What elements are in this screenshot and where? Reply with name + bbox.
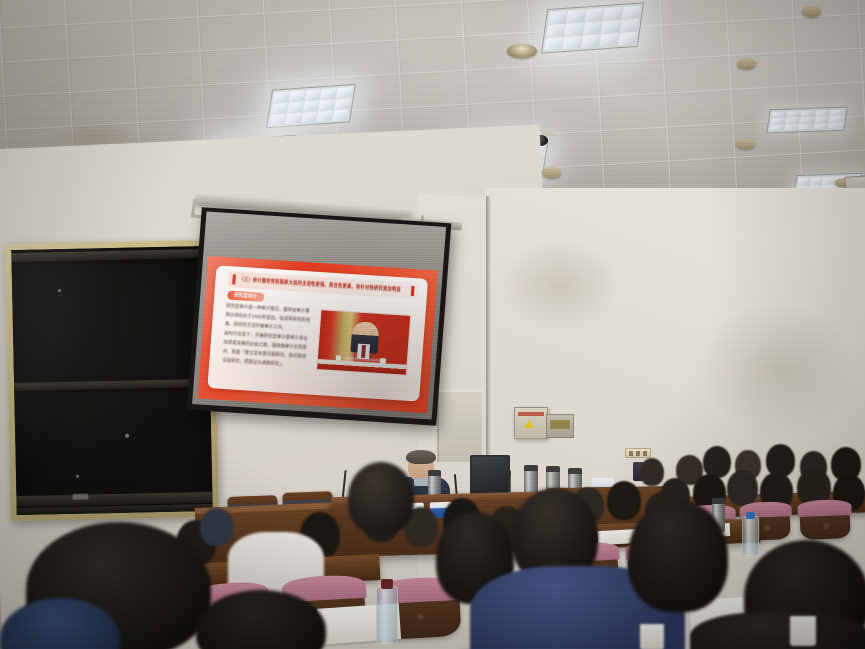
title-accent-bar-right: [411, 286, 415, 296]
troffer-light-1: [541, 2, 644, 53]
control-box: [546, 414, 574, 438]
electrical-panel: [514, 407, 548, 439]
water-bottle: [742, 516, 759, 556]
slide-content-card: （三）审计服务党和国家大局的主动性更强、契合性更高、有针对性研究更加明显 研究型…: [207, 265, 428, 401]
smoke-detector-icon: [736, 138, 755, 149]
photo-cup: [380, 358, 386, 363]
slide-paragraph-2: 新时代背景下，开展研究型审计是审计事业高质量发展的必由之路，围绕做审计长的思并，…: [222, 329, 309, 370]
paper-cup: [790, 616, 816, 646]
podium-monitor: [470, 455, 510, 495]
lecture-hall-photo: （三）审计服务党和国家大局的主动性更强、契合性更高、有针对性研究更加明显 研究型…: [0, 0, 865, 649]
smoke-detector-icon: [542, 167, 561, 178]
wall-smudge: [500, 240, 620, 330]
foreground-head: [628, 500, 728, 612]
slide-title-text: （三）审计服务党和国家大局的主动性更强、契合性更高、有针对性研究更加明显: [239, 276, 401, 293]
troffer-light-2: [266, 84, 356, 128]
slide-photo: [316, 309, 412, 376]
audience-head: [200, 508, 234, 546]
foreground-head: [348, 462, 414, 534]
foreground-shoulder: [690, 612, 865, 649]
presentation-slide: （三）审计服务党和国家大局的主动性更强、契合性更高、有针对性研究更加明显 研究型…: [197, 256, 438, 413]
photo-rostrum: [317, 359, 407, 375]
audience-head: [640, 458, 664, 486]
smoke-detector-icon: [802, 6, 821, 17]
slide-paragraph-1: 研究型审计是一种审计理念，最早由审计署院长特别办于2005年提出，强调用研究的视…: [225, 301, 312, 333]
audience-head: [727, 470, 758, 506]
troffer-light-6: [766, 107, 847, 134]
smoke-detector-icon: [507, 44, 537, 58]
photo-cup: [336, 355, 342, 360]
audience-seat: [799, 501, 850, 540]
slide-badge: 研究型审计: [227, 291, 265, 302]
audience-head: [607, 481, 641, 520]
slide-body-text: 研究型审计是一种审计理念，最早由审计署院长特别办于2005年提出，强调用研究的视…: [222, 303, 311, 372]
wall-smudge: [700, 300, 860, 440]
smoke-detector-icon: [737, 58, 756, 69]
presenter-hair: [406, 450, 436, 464]
power-outlet: [625, 448, 651, 458]
water-bottle: [376, 586, 398, 644]
paper-cup: [640, 624, 664, 649]
title-accent-bar-left: [232, 274, 236, 284]
presenter-collar: [414, 478, 429, 486]
projection-screen: （三）审计服务党和国家大局的主动性更强、契合性更高、有针对性研究更加明显 研究型…: [187, 207, 452, 426]
blackboard: [5, 240, 219, 521]
